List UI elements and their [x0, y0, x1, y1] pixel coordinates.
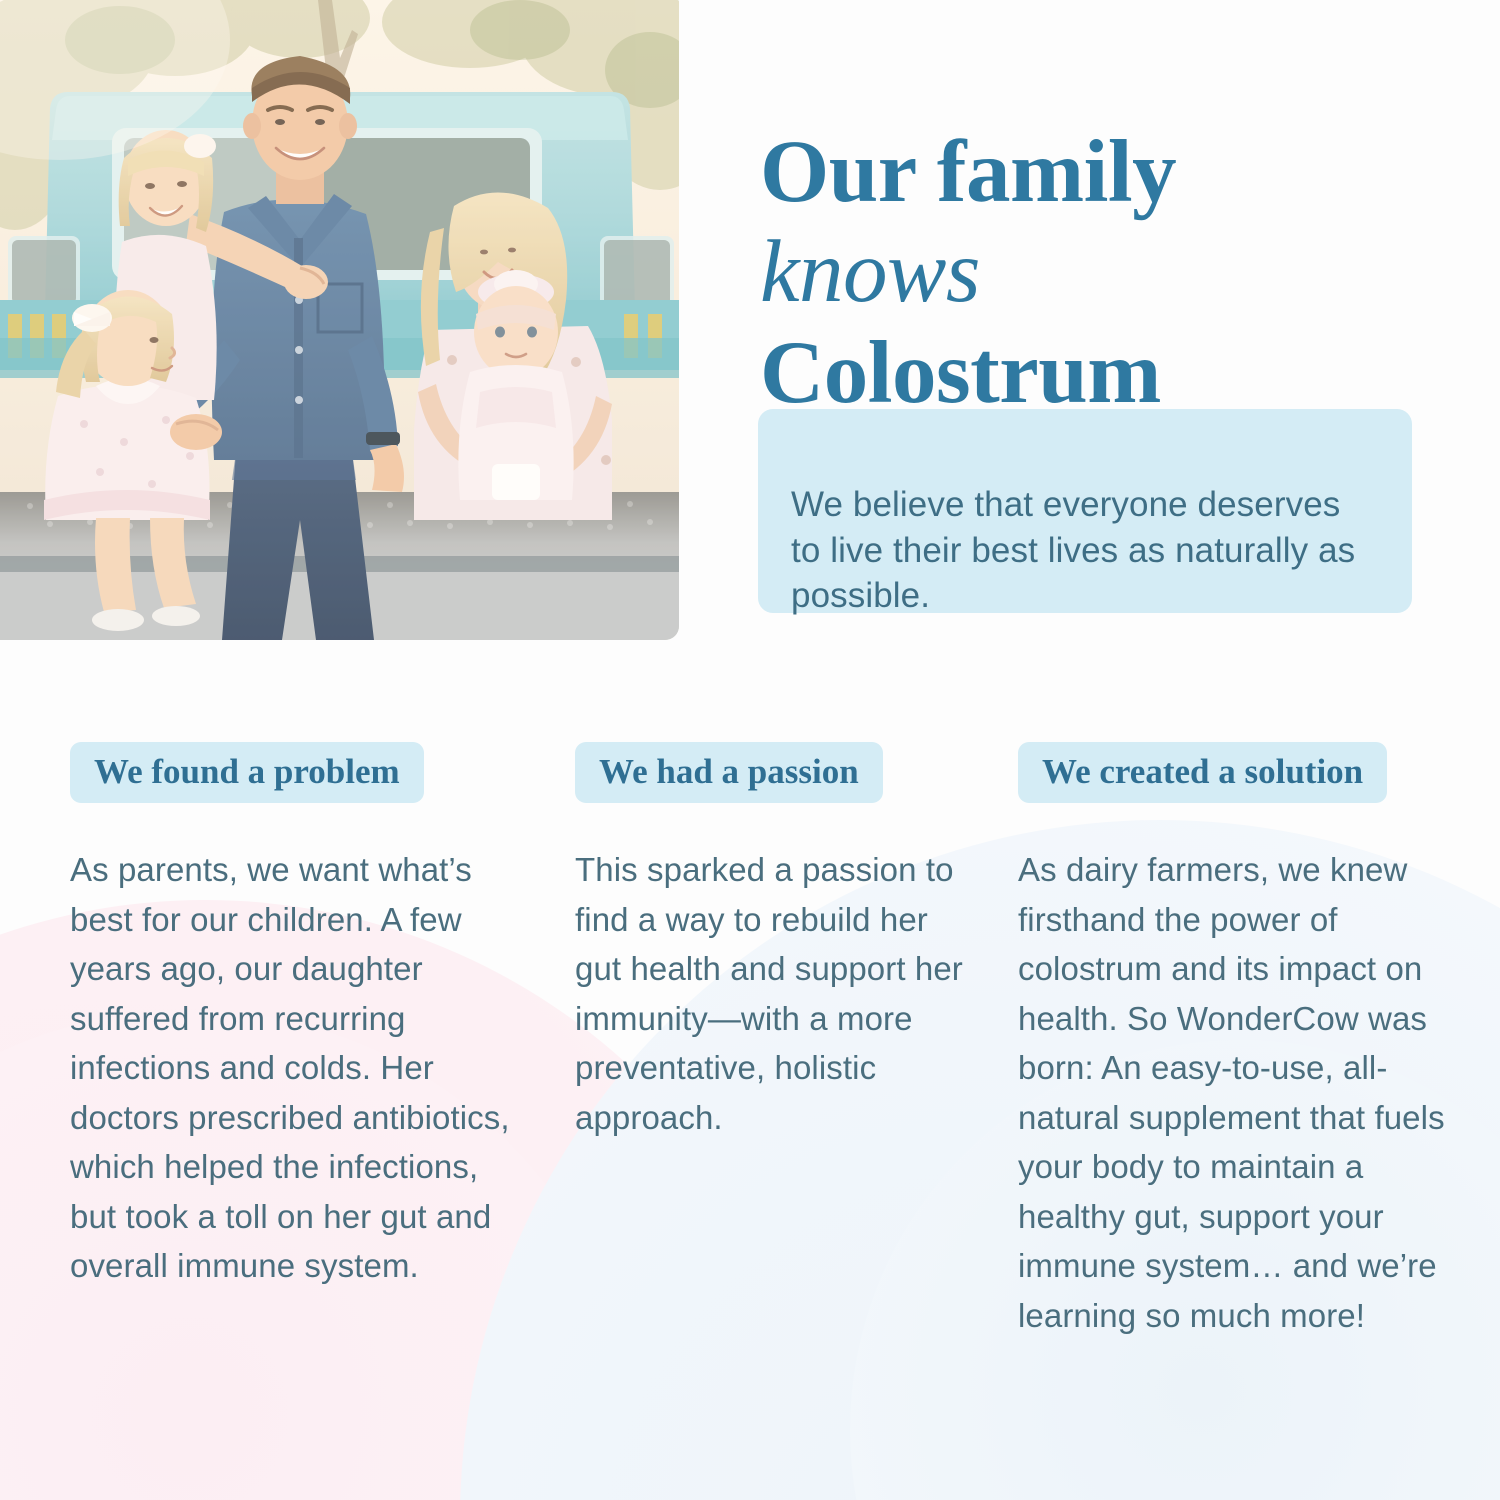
family-photo-illustration — [0, 0, 679, 640]
family-photo — [0, 0, 679, 640]
story-body-solution: As dairy farmers, we knew firsthand the … — [1018, 845, 1458, 1340]
story-column-problem: We found a problem As parents, we want w… — [70, 742, 520, 1324]
story-heading-pill-passion: We had a passion — [575, 742, 883, 803]
story-column-solution: We created a solution As dairy farmers, … — [1018, 742, 1458, 1373]
page-root: Our family knows Colostrum We believe th… — [0, 0, 1500, 1500]
page-content: Our family knows Colostrum We believe th… — [0, 0, 1500, 1500]
mission-statement-box: We believe that everyone deserves to liv… — [758, 409, 1412, 613]
story-body-problem: As parents, we want what’s best for our … — [70, 845, 520, 1291]
mission-statement-text: We believe that everyone deserves to liv… — [791, 482, 1378, 619]
story-heading-pill-solution: We created a solution — [1018, 742, 1387, 803]
story-heading-pill-problem: We found a problem — [70, 742, 424, 803]
headline-line-1: Our family — [760, 122, 1460, 223]
story-body-passion: This sparked a passion to find a way to … — [575, 845, 965, 1142]
story-column-passion: We had a passion This sparked a passion … — [575, 742, 965, 1175]
headline-line-2-italic: knows — [760, 222, 1460, 323]
page-title: Our family knows Colostrum — [760, 122, 1460, 424]
